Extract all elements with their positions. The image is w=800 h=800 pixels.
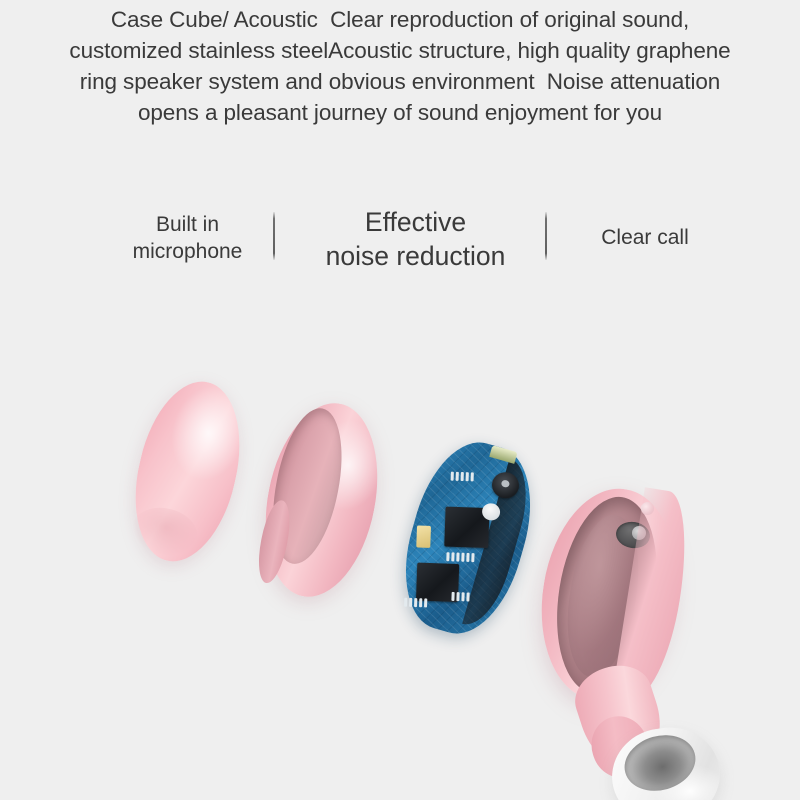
product-feature-page: Case Cube/ Acoustic Clear reproduction o…	[0, 0, 800, 800]
feature-divider-1	[273, 212, 275, 260]
pcb-gold-contact	[416, 525, 431, 547]
feature-effective-noise-reduction: Effective noise reduction	[288, 206, 543, 274]
feature-clear-call: Clear call	[560, 225, 730, 252]
pcb-pad-row	[446, 552, 474, 562]
earbud-shell-part	[520, 470, 710, 800]
exploded-earbud-illustration	[0, 330, 800, 800]
feature-highlights: Built in microphone Effective noise redu…	[70, 206, 730, 286]
pcb-pad-row	[451, 592, 469, 602]
earbud-back-cover-part	[120, 371, 256, 571]
product-description: Case Cube/ Acoustic Clear reproduction o…	[60, 4, 740, 128]
pcb-pad-row	[404, 598, 427, 608]
feature-built-in-microphone: Built in microphone	[105, 212, 270, 266]
pcb-pad-row	[451, 472, 474, 482]
earbud-housing-ring-part	[250, 394, 392, 607]
feature-divider-2	[545, 212, 547, 260]
